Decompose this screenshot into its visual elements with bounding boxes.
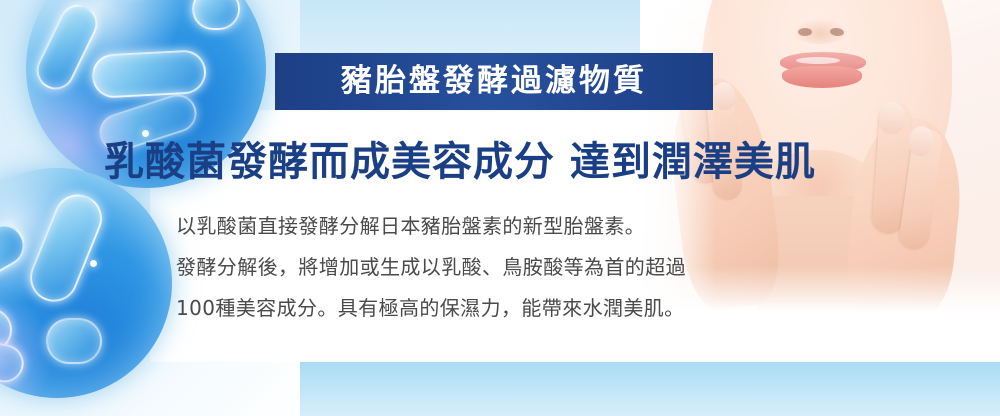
bacteria-rod-icon: [0, 308, 12, 352]
body-line: 發酵分解後，將增加或生成以乳酸、鳥胺酸等為首的超過: [176, 247, 816, 288]
title-tag-text: 豬胎盤發酵過濾物質: [341, 66, 647, 97]
body-copy: 以乳酸菌直接發酵分解日本豬胎盤素的新型胎盤素。 發酵分解後，將增加或生成以乳酸、…: [176, 206, 816, 329]
body-line: 100種美容成分。具有極高的保濕力，能帶來水潤美肌。: [176, 288, 816, 329]
lip-highlight-icon: [796, 57, 840, 64]
bacteria-rod-icon: [46, 318, 102, 364]
bacteria-rod-icon: [0, 217, 32, 285]
lower-lip-icon: [782, 66, 862, 88]
title-tag-banner: 豬胎盤發酵過濾物質: [275, 53, 713, 110]
promo-banner: 豬胎盤發酵過濾物質 乳酸菌發酵而成美容成分 達到潤澤美肌 以乳酸菌直接發酵分解日…: [0, 0, 1000, 416]
sparkle-icon: [90, 260, 97, 267]
body-line: 以乳酸菌直接發酵分解日本豬胎盤素的新型胎盤素。: [176, 206, 816, 247]
bacteria-rod-icon: [192, 0, 240, 30]
bacteria-rod-icon: [30, 0, 104, 96]
bacteria-rod-icon: [91, 49, 207, 99]
bacteria-rod-icon: [0, 333, 27, 386]
bacteria-rod-icon: [23, 187, 109, 309]
nostril-left-icon: [798, 28, 812, 36]
headline: 乳酸菌發酵而成美容成分 達到潤澤美肌: [104, 128, 904, 188]
